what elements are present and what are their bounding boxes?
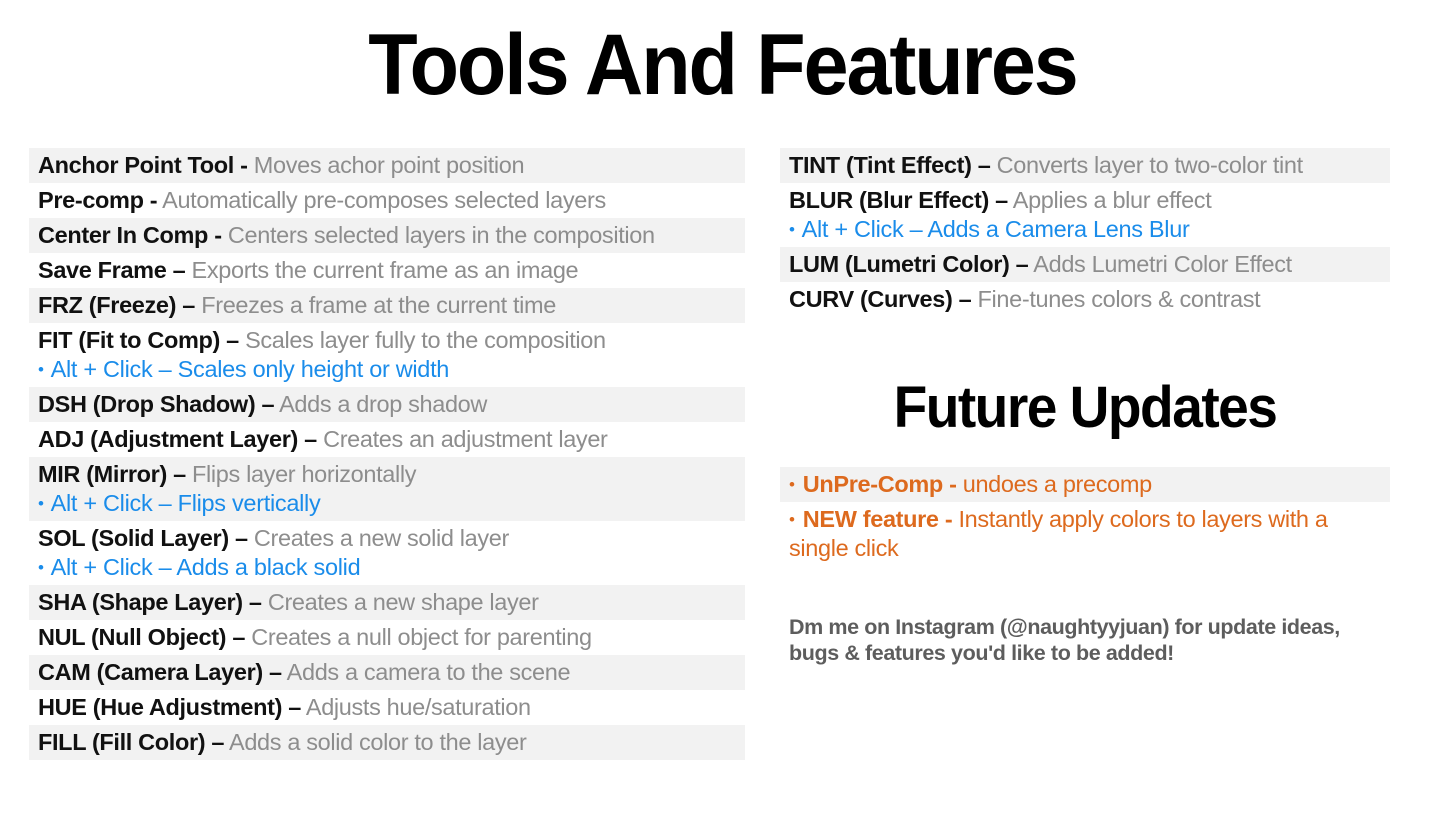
tool-description-label: Scales layer fully to the composition <box>239 327 606 353</box>
tool-row-main-line: CURV (Curves) – Fine-tunes colors & cont… <box>789 285 1390 314</box>
future-update-row[interactable]: • NEW feature - Instantly apply colors t… <box>780 502 1390 566</box>
tool-name-label: TINT (Tint Effect) – <box>789 152 990 178</box>
alt-shortcut-label: Alt + Click – Scales only height or widt… <box>46 356 449 382</box>
tool-name-label: ADJ (Adjustment Layer) – <box>38 426 317 452</box>
tool-description-label: Adds a camera to the scene <box>282 659 570 685</box>
right-column: TINT (Tint Effect) – Converts layer to t… <box>780 148 1390 688</box>
future-updates-list: • UnPre-Comp - undoes a precomp• NEW fea… <box>780 467 1390 566</box>
tool-row[interactable]: CAM (Camera Layer) – Adds a camera to th… <box>29 655 745 690</box>
tool-row[interactable]: SHA (Shape Layer) – Creates a new shape … <box>29 585 745 620</box>
tool-row-main-line: DSH (Drop Shadow) – Adds a drop shadow <box>38 390 745 419</box>
tool-name-label: DSH (Drop Shadow) – <box>38 391 274 417</box>
tool-row[interactable]: FIT (Fit to Comp) – Scales layer fully t… <box>29 323 745 387</box>
tool-row[interactable]: Center In Comp - Centers selected layers… <box>29 218 745 253</box>
tool-row[interactable]: Anchor Point Tool - Moves achor point po… <box>29 148 745 183</box>
tool-description-label: Adjusts hue/saturation <box>301 694 531 720</box>
tool-row[interactable]: Pre-comp - Automatically pre-composes se… <box>29 183 745 218</box>
future-update-name-label: NEW feature - <box>797 506 953 532</box>
future-updates-title: Future Updates <box>795 317 1375 467</box>
tool-description-label: Applies a blur effect <box>1008 187 1212 213</box>
tool-row[interactable]: SOL (Solid Layer) – Creates a new solid … <box>29 521 745 585</box>
tool-description-label: Creates a null object for parenting <box>245 624 592 650</box>
tool-description-label: Centers selected layers in the compositi… <box>222 222 655 248</box>
tool-name-label: MIR (Mirror) – <box>38 461 186 487</box>
tool-name-label: Center In Comp - <box>38 222 222 248</box>
tool-row[interactable]: FRZ (Freeze) – Freezes a frame at the cu… <box>29 288 745 323</box>
tool-description-label: Fine-tunes colors & contrast <box>971 286 1260 312</box>
alt-shortcut-label: Alt + Click – Adds a Camera Lens Blur <box>797 216 1190 242</box>
future-update-line: • NEW feature - Instantly apply colors t… <box>789 505 1390 563</box>
tool-row[interactable]: HUE (Hue Adjustment) – Adjusts hue/satur… <box>29 690 745 725</box>
tool-row[interactable]: MIR (Mirror) – Flips layer horizontally•… <box>29 457 745 521</box>
tool-row-main-line: Pre-comp - Automatically pre-composes se… <box>38 186 745 215</box>
tool-row-main-line: MIR (Mirror) – Flips layer horizontally <box>38 460 745 489</box>
bullet-icon: • <box>789 475 797 494</box>
tool-description-label: Adds Lumetri Color Effect <box>1028 251 1291 277</box>
tool-description-label: Exports the current frame as an image <box>185 257 578 283</box>
content-columns: Anchor Point Tool - Moves achor point po… <box>0 148 1445 760</box>
tool-row-alt-line: • Alt + Click – Scales only height or wi… <box>38 355 745 384</box>
future-update-description-label: undoes a precomp <box>957 471 1152 497</box>
tool-row[interactable]: Save Frame – Exports the current frame a… <box>29 253 745 288</box>
tool-row-main-line: NUL (Null Object) – Creates a null objec… <box>38 623 745 652</box>
tool-row-main-line: SHA (Shape Layer) – Creates a new shape … <box>38 588 745 617</box>
page-title: Tools And Features <box>43 0 1401 108</box>
tool-row[interactable]: BLUR (Blur Effect) – Applies a blur effe… <box>780 183 1390 247</box>
tool-row-main-line: Center In Comp - Centers selected layers… <box>38 221 745 250</box>
tool-row[interactable]: ADJ (Adjustment Layer) – Creates an adju… <box>29 422 745 457</box>
tool-description-label: Creates a new shape layer <box>262 589 539 615</box>
tools-list-right: TINT (Tint Effect) – Converts layer to t… <box>780 148 1390 317</box>
tool-description-label: Automatically pre-composes selected laye… <box>157 187 606 213</box>
tool-name-label: FIT (Fit to Comp) – <box>38 327 239 353</box>
tool-row[interactable]: TINT (Tint Effect) – Converts layer to t… <box>780 148 1390 183</box>
alt-shortcut-label: Alt + Click – Adds a black solid <box>46 554 361 580</box>
bullet-icon: • <box>38 558 46 577</box>
tool-name-label: CAM (Camera Layer) – <box>38 659 282 685</box>
tool-name-label: SOL (Solid Layer) – <box>38 525 248 551</box>
tool-description-label: Converts layer to two-color tint <box>990 152 1302 178</box>
tool-row-main-line: HUE (Hue Adjustment) – Adjusts hue/satur… <box>38 693 745 722</box>
tool-row[interactable]: DSH (Drop Shadow) – Adds a drop shadow <box>29 387 745 422</box>
tool-description-label: Freezes a frame at the current time <box>195 292 556 318</box>
tool-row-main-line: SOL (Solid Layer) – Creates a new solid … <box>38 524 745 553</box>
tool-row[interactable]: FILL (Fill Color) – Adds a solid color t… <box>29 725 745 760</box>
tool-name-label: FRZ (Freeze) – <box>38 292 195 318</box>
bullet-icon: • <box>38 360 46 379</box>
tool-row-main-line: ADJ (Adjustment Layer) – Creates an adju… <box>38 425 745 454</box>
alt-shortcut-label: Alt + Click – Flips vertically <box>46 490 321 516</box>
tool-name-label: Anchor Point Tool - <box>38 152 248 178</box>
tool-row[interactable]: LUM (Lumetri Color) – Adds Lumetri Color… <box>780 247 1390 282</box>
tool-row[interactable]: CURV (Curves) – Fine-tunes colors & cont… <box>780 282 1390 317</box>
future-update-line: • UnPre-Comp - undoes a precomp <box>789 470 1390 499</box>
tool-row-alt-line: • Alt + Click – Adds a Camera Lens Blur <box>789 215 1390 244</box>
future-update-row[interactable]: • UnPre-Comp - undoes a precomp <box>780 467 1390 502</box>
tool-name-label: LUM (Lumetri Color) – <box>789 251 1028 277</box>
tool-row-main-line: LUM (Lumetri Color) – Adds Lumetri Color… <box>789 250 1390 279</box>
tool-name-label: FILL (Fill Color) – <box>38 729 224 755</box>
tool-description-label: Adds a solid color to the layer <box>224 729 526 755</box>
tool-row-main-line: FIT (Fit to Comp) – Scales layer fully t… <box>38 326 745 355</box>
tool-name-label: Save Frame – <box>38 257 185 283</box>
tool-description-label: Moves achor point position <box>248 152 525 178</box>
tool-row-main-line: BLUR (Blur Effect) – Applies a blur effe… <box>789 186 1390 215</box>
tool-description-label: Adds a drop shadow <box>274 391 487 417</box>
bullet-icon: • <box>38 494 46 513</box>
tool-description-label: Creates an adjustment layer <box>317 426 608 452</box>
tool-name-label: NUL (Null Object) – <box>38 624 245 650</box>
tool-row-alt-line: • Alt + Click – Adds a black solid <box>38 553 745 582</box>
tool-row[interactable]: NUL (Null Object) – Creates a null objec… <box>29 620 745 655</box>
bullet-icon: • <box>789 220 797 239</box>
tool-row-main-line: Save Frame – Exports the current frame a… <box>38 256 745 285</box>
tool-row-main-line: FILL (Fill Color) – Adds a solid color t… <box>38 728 745 757</box>
tool-row-main-line: CAM (Camera Layer) – Adds a camera to th… <box>38 658 745 687</box>
future-update-name-label: UnPre-Comp - <box>797 471 957 497</box>
tool-row-alt-line: • Alt + Click – Flips vertically <box>38 489 745 518</box>
tool-name-label: CURV (Curves) – <box>789 286 971 312</box>
tool-name-label: HUE (Hue Adjustment) – <box>38 694 301 720</box>
instagram-contact-note: Dm me on Instagram (@naughtyyjuan) for u… <box>780 614 1390 666</box>
tool-name-label: Pre-comp - <box>38 187 157 213</box>
tool-name-label: SHA (Shape Layer) – <box>38 589 262 615</box>
tool-row-main-line: FRZ (Freeze) – Freezes a frame at the cu… <box>38 291 745 320</box>
tool-description-label: Flips layer horizontally <box>186 461 416 487</box>
tool-name-label: BLUR (Blur Effect) – <box>789 187 1008 213</box>
tool-row-main-line: TINT (Tint Effect) – Converts layer to t… <box>789 151 1390 180</box>
tool-row-main-line: Anchor Point Tool - Moves achor point po… <box>38 151 745 180</box>
bullet-icon: • <box>789 510 797 529</box>
tool-description-label: Creates a new solid layer <box>248 525 509 551</box>
tools-list-left: Anchor Point Tool - Moves achor point po… <box>29 148 745 760</box>
